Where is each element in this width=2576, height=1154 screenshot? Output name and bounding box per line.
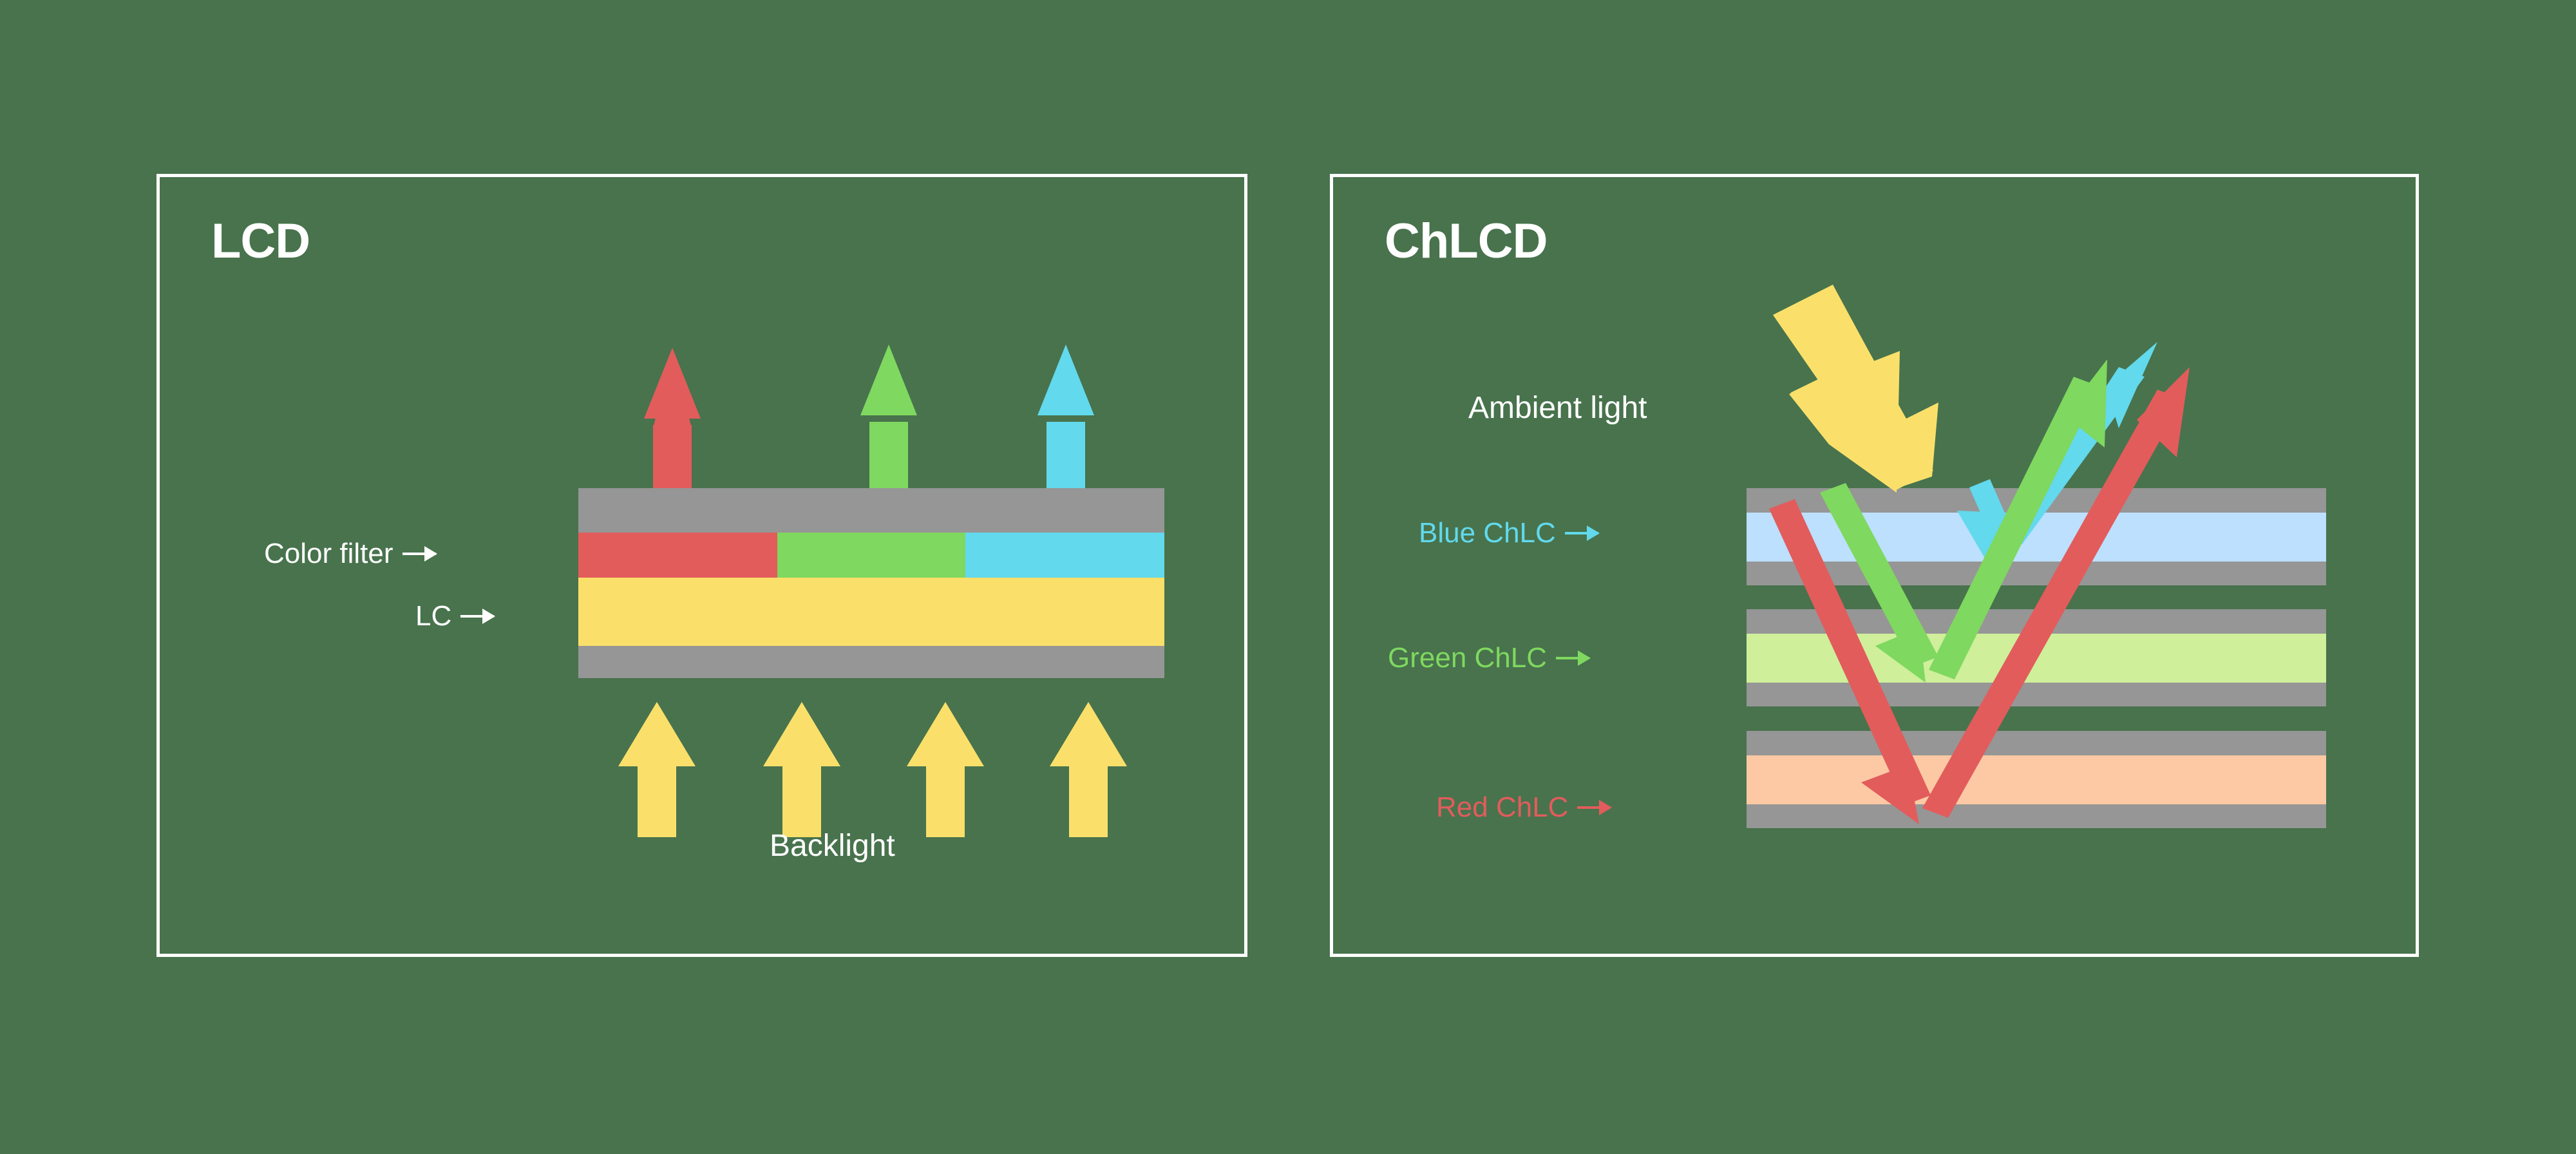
arrow-right-icon bbox=[460, 615, 494, 618]
annotation-blue-chlc-label: Blue ChLC bbox=[1419, 519, 1556, 547]
lcd-color-filter-green bbox=[777, 533, 965, 578]
chlcd-blue-cell bbox=[1747, 513, 2326, 562]
arrow-right-icon bbox=[1577, 806, 1611, 809]
panel-title-lcd: LCD bbox=[211, 217, 310, 266]
annotation-green-chlc: Green ChLC bbox=[1388, 644, 1589, 672]
lcd-color-filter-blue bbox=[965, 533, 1164, 578]
caption-ambient-light: Ambient light bbox=[1468, 393, 1647, 424]
diagram-stage: LCD Color filter LC bbox=[0, 0, 2576, 1154]
chlcd-green-cell bbox=[1747, 634, 2326, 683]
chlcd-red-top-electrode bbox=[1747, 731, 2326, 755]
chlcd-red-bottom-electrode bbox=[1747, 804, 2326, 828]
chlcd-blue-top-electrode bbox=[1747, 488, 2326, 513]
lcd-color-filter bbox=[578, 533, 1164, 578]
arrow-right-icon bbox=[1556, 657, 1589, 659]
annotation-color-filter: Color filter bbox=[264, 540, 436, 568]
chlcd-blue-bottom-electrode bbox=[1747, 562, 2326, 585]
chlcd-green-bottom-electrode bbox=[1747, 683, 2326, 706]
caption-backlight: Backlight bbox=[770, 831, 895, 862]
annotation-red-chlc: Red ChLC bbox=[1436, 793, 1611, 822]
lcd-color-filter-red bbox=[578, 533, 777, 578]
panel-title-chlcd: ChLCD bbox=[1385, 217, 1548, 266]
annotation-color-filter-label: Color filter bbox=[264, 540, 393, 568]
annotation-lc-label: LC bbox=[415, 602, 451, 630]
annotation-red-chlc-label: Red ChLC bbox=[1436, 793, 1568, 822]
annotation-green-chlc-label: Green ChLC bbox=[1388, 644, 1547, 672]
chlcd-red-cell bbox=[1747, 755, 2326, 804]
chlcd-green-top-electrode bbox=[1747, 609, 2326, 634]
arrow-right-icon bbox=[402, 553, 436, 555]
arrow-right-icon bbox=[1565, 532, 1598, 534]
lcd-bottom-electrode bbox=[578, 646, 1164, 678]
lcd-top-electrode bbox=[578, 488, 1164, 533]
annotation-lc: LC bbox=[415, 602, 494, 630]
annotation-blue-chlc: Blue ChLC bbox=[1419, 519, 1598, 547]
lcd-liquid-crystal bbox=[578, 578, 1164, 646]
